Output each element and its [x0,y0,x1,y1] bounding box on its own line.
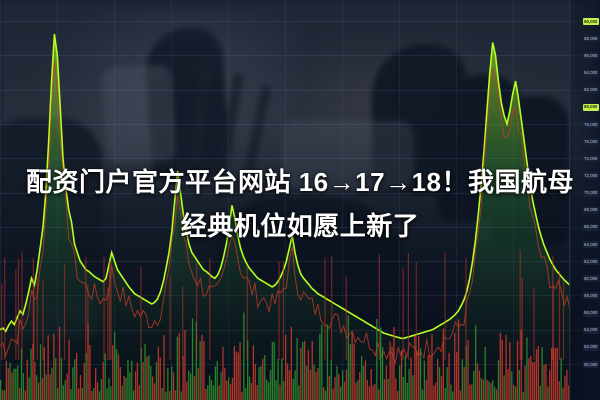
volume-bar [528,358,529,400]
volume-bar [84,363,85,400]
volume-bar [561,358,562,400]
volume-bar [232,378,233,400]
axis-tick-label: 86,000 [583,52,599,59]
volume-bar [53,334,54,400]
volume-bar [207,385,208,400]
volume-bar [226,381,227,400]
volume-bar [152,376,153,400]
volume-bar [110,386,111,400]
volume-bar [306,366,307,400]
volume-bar [245,388,246,400]
axis-tick-label: 50,000 [583,361,599,368]
volume-bar [46,375,47,400]
volume-bar [93,388,94,400]
volume-bar [530,356,531,400]
volume-bar [431,334,432,400]
volume-bar [336,366,337,400]
axis-tick-label: 88,000 [583,35,599,42]
volume-bar [260,366,261,400]
axis-tick-label: 76,000 [583,138,599,145]
volume-bar [105,353,106,400]
volume-bar [122,386,123,400]
volume-bar [63,385,64,400]
volume-bar [296,338,297,400]
volume-bar [51,368,52,400]
headline: 配资门户官方平台网站 16→17→18！我国航母 经典机位如愿上新了 [0,160,600,248]
volume-bar [255,364,256,400]
volume-spike [247,266,248,361]
volume-bar [504,376,505,400]
volume-bar [429,356,430,400]
headline-line-1: 配资门户官方平台网站 16→17→18！我国航母 [26,167,574,197]
axis-tick-label: 62,000 [583,258,599,265]
volume-bar [344,382,345,400]
volume-bar [540,386,541,400]
volume-bar [179,333,180,400]
axis-tick-label: 84,000 [583,70,599,77]
volume-bar [397,391,398,400]
volume-bar [97,382,98,400]
volume-bar [49,375,50,400]
volume-bar [564,376,565,400]
volume-bar [502,340,503,400]
volume-bar [325,391,326,400]
volume-bar [143,362,144,400]
volume-bar [517,341,518,400]
volume-bar [342,370,343,400]
volume-bar [38,383,39,400]
volume-bar [310,370,311,400]
volume-spike [563,280,564,360]
volume-bar [295,370,296,400]
volume-bar [551,348,552,400]
volume-bar [15,369,16,400]
volume-bar [30,349,31,400]
volume-bar [219,385,220,400]
volume-bar [467,340,468,400]
volume-bar [150,366,151,400]
screenshot-root: 90,00088,00086,00084,00082,00080,00078,0… [0,0,600,400]
volume-bar [270,370,271,400]
volume-spike [520,250,521,360]
volume-bar [228,377,229,400]
volume-bar [458,319,459,400]
volume-bar [213,385,214,400]
volume-bar [144,344,145,400]
volume-spike [107,287,108,360]
volume-spike [209,258,210,360]
volume-bar [251,383,252,400]
volume-bar [350,344,351,400]
volume-bar [403,377,404,400]
volume-bar [331,360,332,400]
volume-bar [99,391,100,400]
volume-bar [371,369,372,400]
volume-bar [323,387,324,400]
volume-bar [186,382,187,400]
volume-bar [363,366,364,400]
volume-bar [165,392,166,400]
axis-tick-label: 82,000 [583,87,599,94]
volume-bar [131,361,132,400]
volume-bar [492,380,493,400]
volume-bar [479,371,480,400]
volume-bar [395,378,396,400]
volume-bar [148,356,149,400]
volume-bar [477,363,478,400]
volume-bar [80,375,81,400]
volume-bar [167,368,168,400]
axis-tick-label: 52,000 [583,344,599,351]
volume-spike [379,254,380,360]
volume-bar [500,333,501,400]
volume-bar [129,372,130,400]
volume-bar [158,347,159,400]
volume-bar [192,318,193,400]
volume-bar [95,368,96,400]
volume-bar [262,359,263,400]
volume-bar [386,366,387,400]
volume-spike [182,287,183,360]
volume-bar [298,385,299,400]
volume-bar [526,338,527,400]
volume-bar [315,372,316,400]
volume-bar [418,336,419,400]
volume-spike [279,262,280,360]
volume-bar [494,387,495,400]
volume-bar [118,354,119,400]
volume-bar [190,373,191,400]
volume-bar [289,370,290,400]
volume-spike [331,256,332,360]
volume-bar [40,344,41,400]
volume-bar [283,381,284,400]
volume-bar [224,368,225,400]
volume-bar [211,380,212,400]
volume-bar [498,360,499,400]
volume-bar [67,374,68,400]
volume-bar [2,390,3,400]
volume-bar [274,342,275,400]
volume-bar [146,357,147,400]
volume-bar [428,355,429,400]
volume-bar [426,380,427,400]
volume-bar [137,363,138,400]
volume-bar [488,382,489,400]
volume-spike [103,257,104,360]
axis-tick-label: 54,000 [583,327,599,334]
volume-bar [376,319,377,400]
volume-bar [424,361,425,400]
volume-bar [253,345,254,400]
volume-bar [454,333,455,400]
volume-bar [471,385,472,400]
volume-spike [18,259,19,360]
volume-bar [414,336,415,400]
volume-bar [293,379,294,400]
volume-bar [89,345,90,400]
volume-bar [243,313,244,400]
volume-bar [57,388,58,400]
volume-bar [507,369,508,400]
volume-bar [505,335,506,400]
volume-bar [462,359,463,400]
volume-bar [203,341,204,400]
volume-bar [513,385,514,400]
volume-bar [317,368,318,400]
volume-bar [447,367,448,400]
volume-bar [353,344,354,400]
volume-bar [391,347,392,400]
volume-bar [547,387,548,400]
volume-bar [133,390,134,400]
volume-bar [357,380,358,400]
volume-bar [473,371,474,400]
volume-bar [44,347,45,400]
volume-bar [205,389,206,400]
volume-bar [162,388,163,400]
volume-bar [277,359,278,400]
volume-bar [106,389,107,400]
volume-spike [1,283,2,360]
volume-bar [287,363,288,400]
volume-spike [169,276,170,361]
volume-bar [10,363,11,400]
volume-bar [182,356,183,400]
volume-bar [61,358,62,400]
volume-bar [217,361,218,400]
volume-bar [241,392,242,400]
volume-spike [346,276,347,360]
volume-bar [68,339,69,400]
axis-tick-label: 78,000 [583,121,599,128]
volume-bar [485,347,486,400]
volume-bar [439,367,440,400]
volume-bar [188,370,189,400]
volume-bar [523,392,524,400]
volume-bar [181,391,182,400]
volume-bar [304,341,305,400]
volume-spike [559,271,560,360]
volume-bar [361,356,362,400]
volume-bar [475,325,476,400]
volume-bar [65,380,66,400]
volume-bar [515,387,516,400]
volume-bar [321,325,322,400]
volume-bar [314,365,315,400]
volume-bar [300,348,301,400]
volume-bar [6,361,7,400]
volume-bar [23,373,24,400]
volume-spike [37,277,38,360]
volume-bar [437,359,438,400]
volume-bar [114,332,115,400]
volume-bar [327,325,328,400]
headline-line-2: 经典机位如愿上新了 [0,204,600,248]
volume-bar [194,376,195,400]
volume-bar [557,348,558,400]
volume-bar [17,366,18,400]
volume-bar [112,345,113,400]
volume-spike [33,258,34,360]
volume-bar [536,349,537,400]
volume-bar [348,315,349,400]
volume-bar [372,385,373,400]
volume-bar [420,348,421,400]
volume-bar [405,356,406,400]
volume-bar [264,355,265,400]
volume-bar [566,370,567,400]
volume-bar [156,362,157,400]
volume-spike [64,264,65,360]
volume-bar [91,391,92,400]
volume-bar [101,379,102,400]
volume-spike [324,257,325,360]
volume-bar [538,346,539,400]
volume-bar [481,378,482,400]
volume-bar [74,359,75,400]
volume-bar [268,382,269,400]
volume-bar [55,358,56,400]
volume-bar [19,388,20,400]
volume-bar [509,342,510,400]
volume-bar [543,365,544,400]
volume-bar [486,380,487,400]
volume-spike [533,288,534,360]
volume-bar [222,347,223,400]
volume-bar [281,358,282,400]
volume-bar [388,379,389,400]
volume-bar [257,385,258,400]
volume-spike [15,269,16,360]
volume-bar [542,347,543,400]
volume-bar [266,380,267,400]
volume-bar [272,342,273,400]
volume-bar [393,327,394,400]
volume-bar [25,391,26,400]
volume-bar [407,383,408,400]
volume-spike [553,284,554,360]
volume-spike [21,251,22,360]
volume-bar [0,380,1,400]
volume-bar [532,362,533,400]
volume-bar [163,335,164,400]
volume-bar [496,389,497,400]
volume-bar [483,380,484,400]
volume-bar [443,329,444,400]
volume-bar [412,375,413,400]
volume-bar [184,330,185,400]
volume-bar [519,370,520,400]
volume-bar [433,386,434,400]
volume-bar [365,360,366,400]
volume-bar [401,351,402,400]
volume-bar [367,380,368,400]
volume-spike [416,262,417,360]
volume-spike [283,261,284,360]
volume-spike [465,258,466,360]
volume-spike [522,278,523,360]
axis-tick-label: 56,000 [583,310,599,317]
volume-bar [374,384,375,400]
volume-bar [549,370,550,400]
volume-bar [34,362,35,400]
volume-bar [399,366,400,400]
volume-bar [169,391,170,400]
volume-bar [329,376,330,400]
volume-bar [135,371,136,400]
volume-bar [238,353,239,400]
axis-tick-label: 58,000 [583,292,599,299]
volume-bar [220,372,221,400]
volume-bar [230,384,231,400]
volume-bar [291,327,292,400]
volume-bar [456,352,457,400]
price-tag-highlight: 90,000 [583,18,599,25]
volume-bar [452,392,453,400]
volume-bar [59,327,60,400]
volume-bar [378,389,379,400]
volume-bar [276,380,277,400]
volume-bar [72,368,73,400]
volume-bar [559,381,560,400]
volume-bar [334,377,335,400]
volume-bar [382,347,383,400]
volume-bar [355,383,356,400]
volume-bar [308,350,309,400]
volume-bar [36,375,37,400]
price-tag-highlight: 80,000 [583,104,599,111]
volume-bar [11,373,12,400]
volume-spike [4,258,5,360]
volume-bar [177,337,178,400]
volume-bar [175,390,176,400]
volume-bar [171,366,172,400]
volume-bar [48,335,49,400]
volume-bar [160,357,161,400]
volume-bar [380,327,381,400]
volume-bar [448,353,449,400]
volume-bar [86,353,87,400]
volume-bar [124,376,125,400]
volume-bar [125,378,126,400]
volume-bar [249,377,250,400]
volume-spike [403,268,404,360]
volume-bar [236,351,237,400]
volume-bar [116,349,117,400]
volume-bar [82,388,83,400]
volume-spike [140,267,141,360]
volume-bar [422,390,423,400]
volume-bar [13,369,14,400]
volume-bar [285,335,286,400]
volume-bar [42,378,43,400]
volume-bar [464,367,465,400]
volume-bar [27,360,28,400]
axis-tick-label: 60,000 [583,275,599,282]
volume-bar [302,342,303,400]
volume-bar [410,357,411,400]
volume-spike [408,253,409,360]
volume-bar [469,384,470,400]
volume-bar [173,373,174,400]
volume-bar [359,372,360,400]
volume-bar [312,341,313,400]
volume-bar [333,389,334,400]
volume-bar [545,364,546,400]
volume-bar [562,388,563,400]
volume-bar [29,377,30,400]
